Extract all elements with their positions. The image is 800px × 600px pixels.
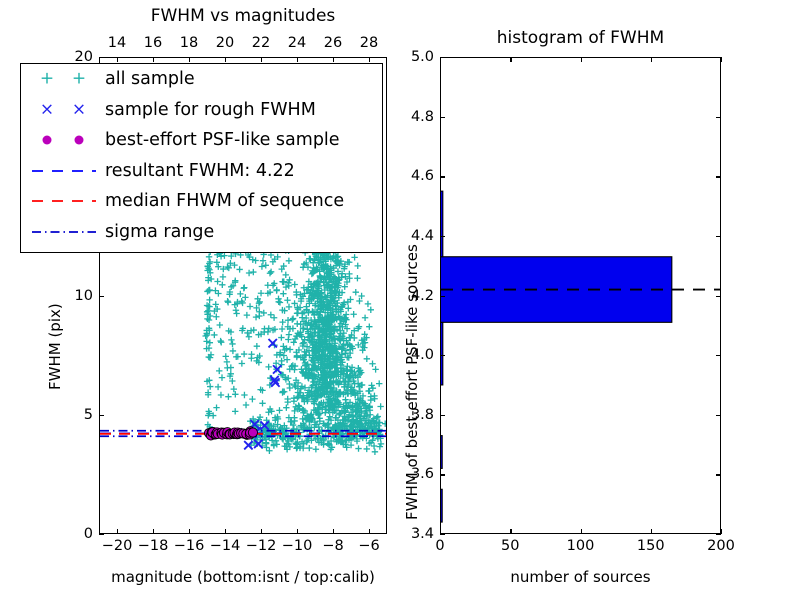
x-tick bbox=[721, 529, 722, 534]
x-tick bbox=[261, 529, 262, 534]
top-x-tick bbox=[261, 57, 262, 62]
y-tick-right bbox=[716, 474, 721, 475]
y-tick-label: 4.8 bbox=[398, 109, 434, 125]
dashdot-line-icon bbox=[27, 217, 101, 247]
x-tick bbox=[153, 529, 154, 534]
top-x-tick bbox=[440, 57, 441, 62]
x-tick bbox=[369, 529, 370, 534]
x-tick-label: −16 bbox=[174, 538, 205, 554]
top-x-tick bbox=[369, 57, 370, 62]
top-x-tick bbox=[189, 57, 190, 62]
y-tick-label: 4.2 bbox=[398, 288, 434, 304]
scatter-plot-xlabel: magnitude (bottom:isnt / top:calib) bbox=[99, 568, 387, 586]
y-tick-right bbox=[716, 534, 721, 535]
figure-canvas: FWHM vs magnitudes FWHM (pix) magnitude … bbox=[0, 0, 800, 600]
histogram-axes bbox=[440, 57, 721, 534]
top-x-tick bbox=[581, 57, 582, 62]
y-tick-right bbox=[716, 236, 721, 237]
y-tick-label: 4.0 bbox=[398, 347, 434, 363]
legend-entry-list: ++all sample××sample for rough FWHMbest-… bbox=[21, 64, 382, 247]
legend-entry: best-effort PSF-like sample bbox=[21, 125, 382, 156]
top-x-tick-label: 20 bbox=[216, 35, 234, 51]
top-x-tick bbox=[117, 57, 118, 62]
legend-entry: resultant FWHM: 4.22 bbox=[21, 156, 382, 187]
x-tick bbox=[297, 529, 298, 534]
top-x-tick-label: 18 bbox=[180, 35, 198, 51]
y-tick-label: 3.4 bbox=[398, 526, 434, 542]
y-tick bbox=[99, 534, 104, 535]
x-tick-label: 50 bbox=[501, 538, 519, 554]
x-tick bbox=[117, 529, 118, 534]
top-x-tick-label: 14 bbox=[108, 35, 126, 51]
y-tick-label: 3.6 bbox=[398, 466, 434, 482]
top-x-tick-label: 28 bbox=[360, 35, 378, 51]
x-tick bbox=[510, 529, 511, 534]
histogram-xlabel: number of sources bbox=[440, 568, 721, 586]
y-tick-label: 4.6 bbox=[398, 168, 434, 184]
y-tick-right bbox=[716, 415, 721, 416]
x-tick-label: −10 bbox=[282, 538, 313, 554]
y-tick bbox=[99, 57, 104, 58]
top-x-tick bbox=[225, 57, 226, 62]
y-tick bbox=[440, 534, 445, 535]
x-tick bbox=[651, 529, 652, 534]
histogram-canvas bbox=[441, 58, 720, 533]
x-tick-label: 0 bbox=[435, 538, 444, 554]
x-tick-label: −20 bbox=[102, 538, 133, 554]
legend-entry-label: sample for rough FWHM bbox=[101, 100, 316, 120]
y-tick bbox=[99, 415, 104, 416]
top-x-tick-label: 22 bbox=[252, 35, 270, 51]
plus-icon: ++ bbox=[27, 64, 101, 94]
dashed-line-icon bbox=[27, 186, 101, 216]
x-tick-label: 200 bbox=[707, 538, 735, 554]
y-tick-right bbox=[716, 176, 721, 177]
legend-entry: ++all sample bbox=[21, 64, 382, 95]
x-tick-label: 100 bbox=[567, 538, 595, 554]
x-tick bbox=[189, 529, 190, 534]
top-x-tick bbox=[153, 57, 154, 62]
x-tick-label: −8 bbox=[322, 538, 343, 554]
y-tick-label: 3.8 bbox=[398, 407, 434, 423]
legend-entry-label: best-effort PSF-like sample bbox=[101, 130, 340, 150]
y-tick-label: 10 bbox=[67, 288, 93, 304]
top-x-tick-label: 24 bbox=[288, 35, 306, 51]
scatter-plot-title: FWHM vs magnitudes bbox=[99, 6, 387, 26]
x-tick bbox=[333, 529, 334, 534]
y-tick bbox=[440, 117, 445, 118]
scatter-plot-ylabel: FWHM (pix) bbox=[46, 303, 64, 390]
dashed-line-icon bbox=[27, 156, 101, 186]
legend-entry-label: sigma range bbox=[101, 222, 214, 242]
legend-entry: ××sample for rough FWHM bbox=[21, 95, 382, 126]
y-tick-label: 0 bbox=[67, 526, 93, 542]
x-tick-label: −14 bbox=[210, 538, 241, 554]
top-x-tick-label: 26 bbox=[324, 35, 342, 51]
x-tick-label: −6 bbox=[358, 538, 379, 554]
y-tick-label: 4.4 bbox=[398, 228, 434, 244]
legend-entry: sigma range bbox=[21, 217, 382, 248]
top-x-tick bbox=[333, 57, 334, 62]
histogram-title: histogram of FWHM bbox=[440, 28, 721, 48]
top-x-tick bbox=[651, 57, 652, 62]
x-tick-label: −18 bbox=[138, 538, 169, 554]
y-tick bbox=[440, 176, 445, 177]
y-tick bbox=[440, 415, 445, 416]
circle-icon bbox=[27, 125, 101, 155]
x-tick-label: −12 bbox=[246, 538, 277, 554]
legend-entry: median FHWM of sequence bbox=[21, 186, 382, 217]
y-tick bbox=[440, 355, 445, 356]
top-x-tick bbox=[721, 57, 722, 62]
x-tick bbox=[581, 529, 582, 534]
y-tick-right bbox=[716, 355, 721, 356]
top-x-tick-label: 16 bbox=[144, 35, 162, 51]
top-x-tick bbox=[510, 57, 511, 62]
legend-entry-label: median FHWM of sequence bbox=[101, 191, 344, 211]
y-tick-label: 5.0 bbox=[398, 49, 434, 65]
y-tick-right bbox=[716, 117, 721, 118]
y-tick-right bbox=[716, 296, 721, 297]
x-tick bbox=[225, 529, 226, 534]
legend-entry-label: resultant FWHM: 4.22 bbox=[101, 161, 295, 181]
legend-entry-label: all sample bbox=[101, 69, 195, 89]
legend-box: ++all sample××sample for rough FWHMbest-… bbox=[20, 63, 383, 253]
cross-icon: ×× bbox=[27, 95, 101, 125]
y-tick bbox=[440, 474, 445, 475]
top-x-tick bbox=[297, 57, 298, 62]
y-tick bbox=[99, 296, 104, 297]
y-tick bbox=[440, 236, 445, 237]
y-tick bbox=[440, 296, 445, 297]
y-tick-label: 5 bbox=[67, 407, 93, 423]
x-tick-label: 150 bbox=[637, 538, 665, 554]
